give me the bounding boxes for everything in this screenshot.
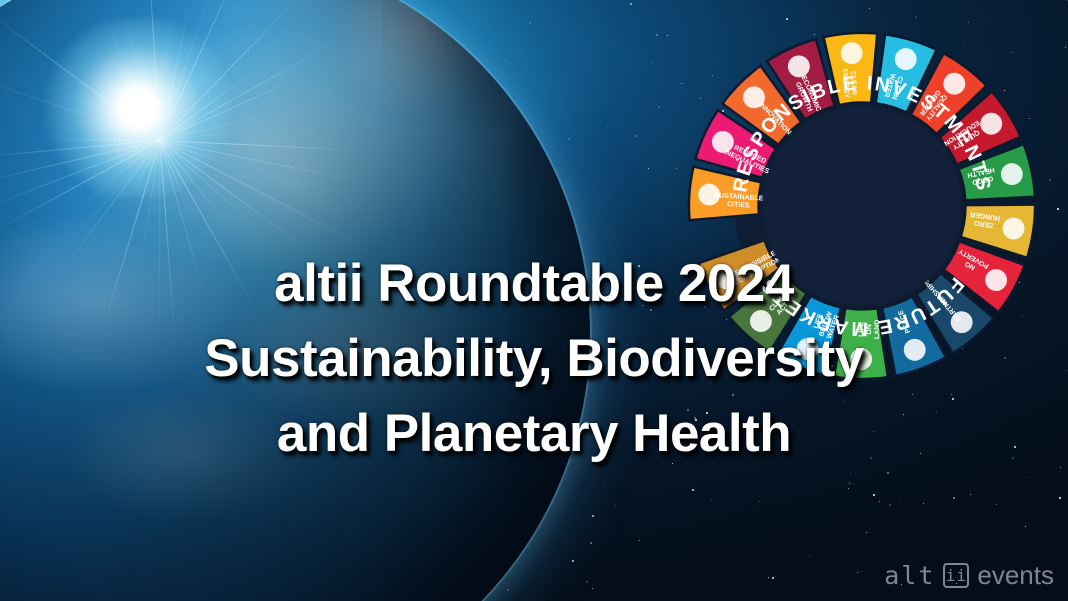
logo-ii-box: ii xyxy=(943,563,969,588)
presentation-slide: SUSTAINABLECITIES REDUCEDINEQUALITIES IN… xyxy=(0,0,1068,601)
sun-flare-icon xyxy=(38,18,238,198)
logo-suffix: events xyxy=(977,560,1054,591)
logo-prefix: alt xyxy=(884,561,935,590)
title-line-3: and Planetary Health xyxy=(0,396,1068,471)
title-line-1: altii Roundtable 2024 xyxy=(0,246,1068,321)
altii-events-logo: altiievents xyxy=(884,560,1054,591)
page-title: altii Roundtable 2024 Sustainability, Bi… xyxy=(0,246,1068,471)
title-line-2: Sustainability, Biodiversity xyxy=(0,321,1068,396)
